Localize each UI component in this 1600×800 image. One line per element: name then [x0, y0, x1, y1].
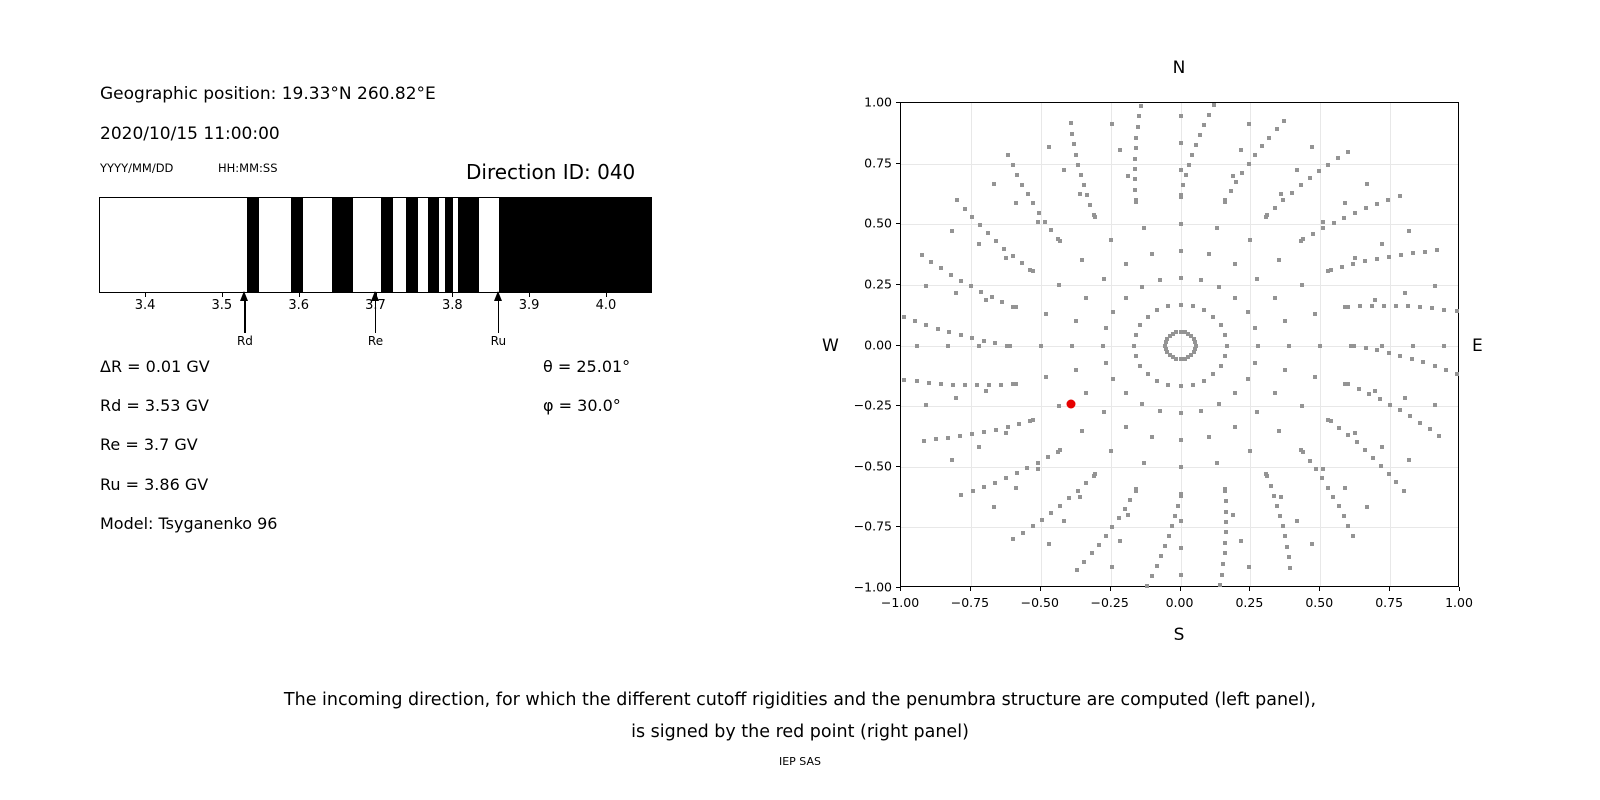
direction-grid-point: [902, 315, 906, 319]
direction-grid-point: [1110, 122, 1114, 126]
direction-grid-point: [1084, 296, 1088, 300]
direction-grid-point: [1134, 146, 1138, 150]
selected-direction-point: [1067, 399, 1076, 408]
gridline-vertical: [1181, 103, 1182, 586]
x-tick-mark: [452, 293, 453, 297]
direction-grid-point: [1138, 364, 1142, 368]
direction-grid-point: [1233, 296, 1237, 300]
direction-grid-point: [1109, 238, 1113, 242]
gridline-horizontal: [901, 527, 1458, 528]
direction-grid-point: [1433, 284, 1437, 288]
penumbra-closed-band: [291, 198, 303, 292]
direction-grid-point: [1285, 545, 1289, 549]
direction-grid-point: [1273, 206, 1277, 210]
direction-grid-point: [1090, 551, 1094, 555]
x-tick-mark: [1319, 587, 1320, 591]
direction-grid-point: [1217, 402, 1221, 406]
gridline-horizontal: [901, 164, 1458, 165]
direction-grid-point: [1277, 258, 1281, 262]
direction-grid-point: [922, 439, 926, 443]
direction-grid-point: [1363, 448, 1367, 452]
direction-grid-point: [970, 336, 974, 340]
direction-grid-point: [1253, 361, 1257, 365]
direction-grid-point: [1145, 584, 1149, 588]
direction-grid-point: [1267, 136, 1271, 140]
direction-grid-point: [1110, 525, 1114, 529]
direction-grid-point: [1146, 372, 1150, 376]
direction-grid-point: [1025, 466, 1029, 470]
direction-grid-point: [1313, 375, 1317, 379]
direction-grid-point: [1057, 283, 1061, 287]
direction-grid-point: [992, 505, 996, 509]
direction-grid-point: [1418, 421, 1422, 425]
direction-grid-point: [1058, 504, 1062, 508]
direction-grid-point: [1300, 283, 1304, 287]
direction-grid-point: [1398, 408, 1402, 412]
direction-grid-point: [1435, 248, 1439, 252]
direction-grid-point: [1387, 351, 1391, 355]
direction-grid-point: [1430, 306, 1434, 310]
direction-grid-point: [950, 458, 954, 462]
x-tick-label: −0.75: [951, 595, 989, 610]
direction-grid-point: [1388, 403, 1392, 407]
direction-grid-point: [1299, 183, 1303, 187]
direction-grid-point: [1159, 554, 1163, 558]
direction-grid-point: [1382, 304, 1386, 308]
direction-grid-point: [1207, 113, 1211, 117]
direction-grid-point: [1074, 319, 1078, 323]
direction-grid-point: [1026, 192, 1030, 196]
y-tick-label: 0.00: [842, 337, 892, 352]
direction-grid-point: [1220, 573, 1224, 577]
direction-grid-point: [1279, 192, 1283, 196]
y-tick-label: 1.00: [842, 95, 892, 110]
direction-grid-point: [1174, 357, 1178, 361]
direction-grid-point: [1074, 153, 1078, 157]
direction-grid-point: [1437, 434, 1441, 438]
direction-grid-point: [1326, 163, 1330, 167]
direction-grid-point: [1142, 226, 1146, 230]
penumbra-x-axis: 3.43.53.63.73.83.94.0RdReRu: [99, 293, 652, 353]
direction-grid-point: [1133, 188, 1137, 192]
direction-grid-point: [1011, 254, 1015, 258]
y-tick-label: −1.00: [842, 580, 892, 595]
direction-grid-point: [1279, 495, 1283, 499]
direction-grid-point: [1342, 216, 1346, 220]
direction-grid-point: [1004, 476, 1008, 480]
direction-grid-point: [1176, 504, 1180, 508]
direction-grid-point: [1308, 176, 1312, 180]
direction-grid-point: [1102, 410, 1106, 414]
direction-grid-point: [1387, 255, 1391, 259]
direction-grid-point: [1179, 438, 1183, 442]
caption-line-2: is signed by the red point (right panel): [0, 716, 1600, 748]
direction-grid-point: [1301, 450, 1305, 454]
direction-grid-point: [927, 381, 931, 385]
direction-grid-point: [959, 279, 963, 283]
direction-grid-point: [1047, 145, 1051, 149]
direction-grid-point: [913, 319, 917, 323]
direction-grid-point: [920, 253, 924, 257]
direction-grid-point: [1300, 404, 1304, 408]
direction-grid-point: [1246, 310, 1250, 314]
direction-grid-point: [1166, 383, 1170, 387]
direction-grid-point: [1373, 389, 1377, 393]
direction-grid-point: [959, 333, 963, 337]
direction-grid-point: [1336, 156, 1340, 160]
x-tick-mark: [1110, 587, 1111, 591]
direction-grid-point: [1062, 168, 1066, 172]
direction-grid-point: [1353, 431, 1357, 435]
direction-grid-point: [1015, 471, 1019, 475]
direction-grid-point: [1398, 354, 1402, 358]
penumbra-closed-band: [499, 198, 652, 292]
direction-grid-point: [1281, 198, 1285, 202]
direction-grid-point: [1136, 125, 1140, 129]
geographic-position-label: Geographic position: 19.33°N 260.82°E: [100, 84, 436, 104]
direction-grid-point: [1072, 142, 1076, 146]
direction-grid-point: [939, 266, 943, 270]
direction-grid-point: [1380, 445, 1384, 449]
direction-grid-point: [977, 242, 981, 246]
direction-grid-point: [1134, 333, 1138, 337]
direction-grid-point: [1346, 150, 1350, 154]
direction-grid-point: [1378, 397, 1382, 401]
x-tick-label: −0.25: [1090, 595, 1128, 610]
x-tick-label: 1.00: [1445, 595, 1473, 610]
direction-grid-point: [959, 493, 963, 497]
direction-grid-point: [1329, 268, 1333, 272]
direction-grid-point: [1215, 226, 1219, 230]
direction-grid-point: [1240, 171, 1244, 175]
direction-grid-point: [1057, 404, 1061, 408]
direction-grid-point: [1273, 391, 1277, 395]
direction-grid-point: [1146, 315, 1150, 319]
direction-grid-point: [1272, 494, 1276, 498]
direction-grid-point: [1142, 461, 1146, 465]
direction-grid-point: [1104, 534, 1108, 538]
direction-grid-point: [1387, 472, 1391, 476]
param-model: Model: Tsyganenko 96: [100, 514, 277, 533]
direction-grid-point: [1181, 183, 1185, 187]
direction-grid-point: [1407, 458, 1411, 462]
direction-grid-point: [954, 291, 958, 295]
direction-grid-point: [1408, 414, 1412, 418]
direction-grid-point: [1056, 237, 1060, 241]
direction-grid-point: [1423, 250, 1427, 254]
direction-grid-point: [1179, 573, 1183, 577]
left-panel: Geographic position: 19.33°N 260.82°E 20…: [0, 0, 800, 660]
direction-grid-point: [1428, 427, 1432, 431]
direction-id-label: Direction ID: 040: [466, 160, 635, 184]
direction-grid-point: [1321, 220, 1325, 224]
direction-grid-point: [1410, 357, 1414, 361]
direction-grid-point: [1049, 228, 1053, 232]
direction-grid-point: [1371, 456, 1375, 460]
direction-grid-point: [1248, 449, 1252, 453]
direction-grid-point: [1155, 564, 1159, 568]
y-tick-label: −0.75: [842, 519, 892, 534]
direction-grid-point: [1239, 539, 1243, 543]
direction-grid-point: [1375, 202, 1379, 206]
direction-grid-point: [1320, 476, 1324, 480]
direction-grid-point: [1248, 238, 1252, 242]
direction-grid-point: [934, 437, 938, 441]
direction-grid-point: [1097, 543, 1101, 547]
direction-grid-point: [1133, 167, 1137, 171]
direction-grid-point: [1124, 262, 1128, 266]
direction-grid-point: [1224, 530, 1228, 534]
direction-grid-point: [924, 403, 928, 407]
direction-grid-point: [1020, 261, 1024, 265]
direction-grid-point: [975, 383, 979, 387]
direction-grid-point: [1283, 534, 1287, 538]
direction-grid-point: [1031, 201, 1035, 205]
direction-grid-point: [982, 485, 986, 489]
direction-grid-point: [1455, 309, 1459, 313]
direction-grid-point: [1118, 148, 1122, 152]
x-tick-mark: [222, 293, 223, 297]
direction-grid-point: [1355, 440, 1359, 444]
direction-grid-point: [984, 298, 988, 302]
direction-grid-point: [1411, 344, 1415, 348]
direction-grid-point: [1070, 344, 1074, 348]
x-tick-label: 3.6: [288, 298, 309, 313]
direction-grid-point: [1265, 474, 1269, 478]
x-tick-mark: [1389, 587, 1390, 591]
direction-grid-point: [955, 198, 959, 202]
direction-grid-point: [999, 383, 1003, 387]
penumbra-closed-band: [458, 198, 479, 292]
direction-grid-point: [1247, 565, 1251, 569]
direction-grid-point: [1346, 305, 1350, 309]
direction-grid-point: [1351, 262, 1355, 266]
direction-grid-point: [1124, 391, 1128, 395]
direction-grid-point: [1403, 291, 1407, 295]
marker-label: Ru: [491, 334, 506, 348]
direction-grid-point: [1224, 510, 1228, 514]
direction-grid-point: [1308, 459, 1312, 463]
direction-grid-point: [1006, 425, 1010, 429]
direction-grid-point: [1211, 315, 1215, 319]
direction-grid-point: [1179, 384, 1183, 388]
direction-grid-point: [1253, 153, 1257, 157]
direction-grid-point: [1253, 326, 1257, 330]
gridline-horizontal: [901, 346, 1458, 347]
direction-grid-point: [1221, 562, 1225, 566]
direction-grid-point: [1331, 495, 1335, 499]
x-tick-mark: [1249, 587, 1250, 591]
y-tick-mark: [896, 163, 900, 164]
direction-grid-point: [1037, 211, 1041, 215]
direction-grid-point: [1337, 426, 1341, 430]
x-tick-label: 3.8: [442, 298, 463, 313]
time-format-hint: HH:MM:SS: [218, 161, 278, 175]
direction-grid-point: [1367, 392, 1371, 396]
y-tick-label: −0.50: [842, 458, 892, 473]
direction-grid-point: [1310, 542, 1314, 546]
param-re: Re = 3.7 GV: [100, 435, 198, 454]
direction-grid-point: [1352, 344, 1356, 348]
direction-grid-point: [1056, 450, 1060, 454]
direction-grid-point: [1126, 174, 1130, 178]
direction-grid-point: [1011, 163, 1015, 167]
direction-grid-point: [1364, 346, 1368, 350]
direction-grid-point: [1179, 141, 1183, 145]
direction-grid-point: [1295, 168, 1299, 172]
direction-grid-point: [1011, 305, 1015, 309]
y-tick-mark: [896, 223, 900, 224]
penumbra-spectrum-chart: [99, 197, 652, 293]
direction-grid-point: [1134, 354, 1138, 358]
direction-grid-point: [984, 389, 988, 393]
param-phi: φ = 30.0°: [543, 396, 621, 415]
direction-grid-point: [1080, 258, 1084, 262]
direction-grid-point: [1155, 308, 1159, 312]
x-tick-mark: [1180, 587, 1181, 591]
direction-grid-point: [1313, 312, 1317, 316]
x-tick-label: 3.5: [212, 298, 233, 313]
direction-grid-point: [1365, 505, 1369, 509]
x-tick-mark: [145, 293, 146, 297]
direction-grid-point: [1346, 524, 1350, 528]
direction-grid-point: [1049, 511, 1053, 515]
x-tick-label: 3.9: [519, 298, 540, 313]
direction-grid-point: [1332, 221, 1336, 225]
direction-grid-point: [1287, 555, 1291, 559]
direction-grid-point: [1101, 344, 1105, 348]
direction-grid-point: [1275, 504, 1279, 508]
direction-grid-point: [1126, 513, 1130, 517]
direction-grid-point: [1255, 410, 1259, 414]
direction-grid-point: [1283, 319, 1287, 323]
direction-grid-point: [1179, 411, 1183, 415]
marker-stem: [498, 299, 499, 333]
direction-grid-point: [1132, 344, 1136, 348]
penumbra-closed-band: [428, 198, 439, 292]
direction-grid-point: [1137, 114, 1141, 118]
direction-grid-point: [1379, 464, 1383, 468]
direction-grid-point: [1110, 565, 1114, 569]
direction-grid-point: [993, 341, 997, 345]
direction-grid-point: [1031, 524, 1035, 528]
direction-grid-point: [1104, 361, 1108, 365]
direction-grid-point: [1123, 507, 1127, 511]
y-tick-label: −0.25: [842, 398, 892, 413]
direction-grid-point: [1002, 247, 1006, 251]
direction-grid-point: [1028, 268, 1032, 272]
x-tick-label: 0.25: [1235, 595, 1263, 610]
direction-grid-point: [954, 396, 958, 400]
direction-grid-point: [992, 182, 996, 186]
direction-grid-point: [1082, 560, 1086, 564]
direction-grid-point: [1275, 127, 1279, 131]
direction-grid-point: [1407, 229, 1411, 233]
direction-grid-point: [1088, 203, 1092, 207]
direction-grid-point: [1373, 298, 1377, 302]
direction-grid-point: [1207, 435, 1211, 439]
y-tick-label: 0.25: [842, 276, 892, 291]
direction-grid-point: [978, 223, 982, 227]
direction-grid-point: [1269, 484, 1273, 488]
datetime-label: 2020/10/15 11:00:00: [100, 124, 280, 144]
direction-grid-point: [1036, 220, 1040, 224]
direction-grid-point: [1403, 396, 1407, 400]
direction-grid-point: [1133, 177, 1137, 181]
param-delta-r-text: ΔR = 0.01 GV: [100, 357, 210, 376]
direction-grid-point: [1215, 461, 1219, 465]
direction-grid-point: [1357, 387, 1361, 391]
y-tick-mark: [896, 405, 900, 406]
penumbra-closed-band: [332, 198, 353, 292]
direction-grid-point: [1076, 163, 1080, 167]
direction-grid-point: [947, 330, 951, 334]
direction-grid-point: [1346, 382, 1350, 386]
direction-grid-point: [1343, 201, 1347, 205]
direction-grid-point: [958, 434, 962, 438]
direction-grid-point: [1321, 467, 1325, 471]
direction-grid-point: [950, 229, 954, 233]
penumbra-bar: [99, 197, 652, 293]
direction-grid-point: [1128, 498, 1132, 502]
direction-grid-point: [1004, 256, 1008, 260]
direction-grid-point: [1353, 211, 1357, 215]
direction-grid-point: [1321, 226, 1325, 230]
direction-grid-point: [1353, 256, 1357, 260]
y-tick-mark: [896, 102, 900, 103]
direction-grid-point: [1202, 379, 1206, 383]
direction-grid-point: [970, 432, 974, 436]
x-tick-label: 4.0: [596, 298, 617, 313]
direction-grid-point: [1202, 308, 1206, 312]
direction-grid-point: [1179, 465, 1183, 469]
direction-grid-point: [1314, 467, 1318, 471]
direction-grid-point: [1166, 304, 1170, 308]
direction-grid-point: [1036, 461, 1040, 465]
direction-grid-point: [1219, 364, 1223, 368]
direction-grid-point: [1301, 237, 1305, 241]
direction-grid-point: [1174, 330, 1178, 334]
direction-grid-point: [990, 295, 994, 299]
direction-grid-point: [1198, 133, 1202, 137]
direction-grid-point: [924, 323, 928, 327]
direction-grid-point: [1047, 542, 1051, 546]
direction-grid-point: [1212, 103, 1216, 107]
direction-grid-point: [1076, 489, 1080, 493]
direction-grid-point: [971, 489, 975, 493]
direction-grid-point: [1224, 520, 1228, 524]
direction-grid-point: [1380, 242, 1384, 246]
direction-grid-point: [1104, 326, 1108, 330]
direction-grid-point: [1358, 304, 1362, 308]
direction-grid-point: [1310, 145, 1314, 149]
direction-grid-point: [982, 339, 986, 343]
direction-grid-point: [1158, 409, 1162, 413]
direction-grid-point: [969, 284, 973, 288]
direction-grid-point: [1283, 368, 1287, 372]
direction-grid-point: [1233, 262, 1237, 266]
right-panel: N S W E −1.00−0.75−0.50−0.250.000.250.50…: [800, 0, 1600, 660]
param-ru: Ru = 3.86 GV: [100, 475, 208, 494]
direction-grid-point: [1140, 285, 1144, 289]
direction-grid-point: [1140, 402, 1144, 406]
direction-grid-point: [1337, 504, 1341, 508]
direction-grid-point: [1295, 519, 1299, 523]
direction-grid-point: [963, 207, 967, 211]
direction-grid-point: [1069, 121, 1073, 125]
direction-grid-point: [1084, 391, 1088, 395]
direction-grid-point: [987, 383, 991, 387]
